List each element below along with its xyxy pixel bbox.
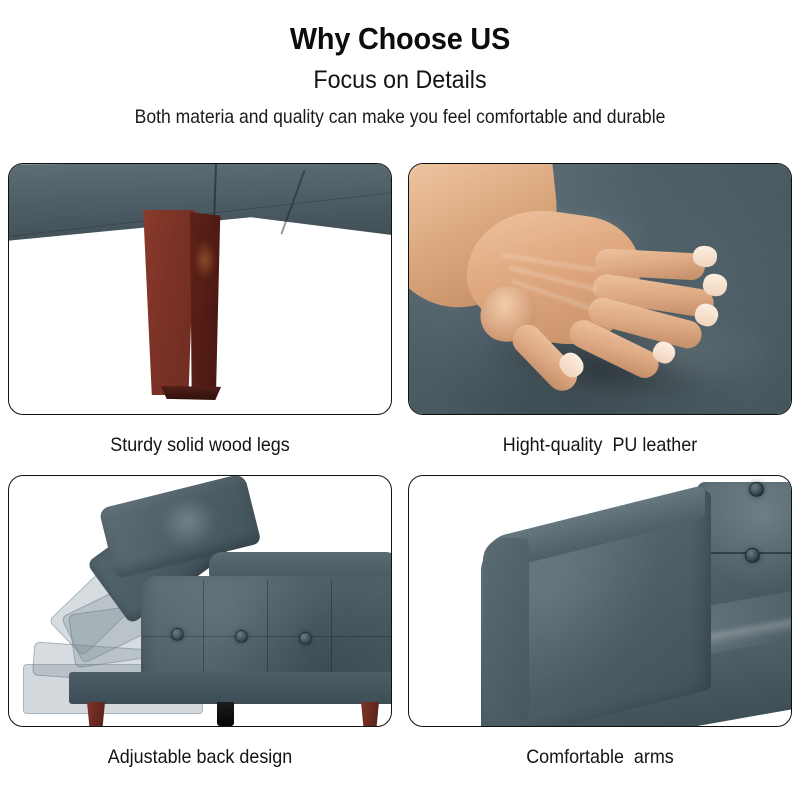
wood-leg-right	[361, 702, 379, 727]
panel-comfortable-arms	[408, 475, 792, 727]
tufted-button	[235, 630, 248, 643]
tufted-button	[299, 632, 312, 645]
sofa-arm-front-face	[483, 538, 529, 720]
tufted-button	[749, 482, 764, 497]
feature-grid: Sturdy solid wood legs Hight-quality PU …	[8, 163, 792, 787]
wood-leg-left	[87, 702, 105, 727]
caption-comfortable-arms: Comfortable arms	[423, 727, 776, 787]
sofa-arm-top	[209, 552, 392, 578]
page-title: Why Choose US	[28, 22, 772, 57]
panel-pu-leather	[408, 163, 792, 415]
tufted-button	[171, 628, 184, 641]
header: Why Choose US Focus on Details Both mate…	[0, 0, 800, 128]
page-subtitle: Focus on Details	[28, 66, 772, 94]
sofa-skirt	[69, 672, 392, 704]
panel-adjustable-back	[8, 475, 392, 727]
tufted-button	[745, 548, 760, 563]
wood-leg-front-face	[141, 210, 195, 395]
caption-pu-leather: Hight-quality PU leather	[423, 415, 776, 475]
wood-leg-highlight	[194, 240, 216, 280]
caption-sturdy-legs: Sturdy solid wood legs	[23, 415, 376, 475]
caption-adjustable-back: Adjustable back design	[23, 727, 376, 787]
infographic-page: Why Choose US Focus on Details Both mate…	[0, 0, 800, 800]
page-tagline: Both materia and quality can make you fe…	[40, 106, 760, 128]
panel-sturdy-legs	[8, 163, 392, 415]
center-support-leg	[217, 702, 234, 726]
wood-leg-foot	[159, 386, 223, 400]
